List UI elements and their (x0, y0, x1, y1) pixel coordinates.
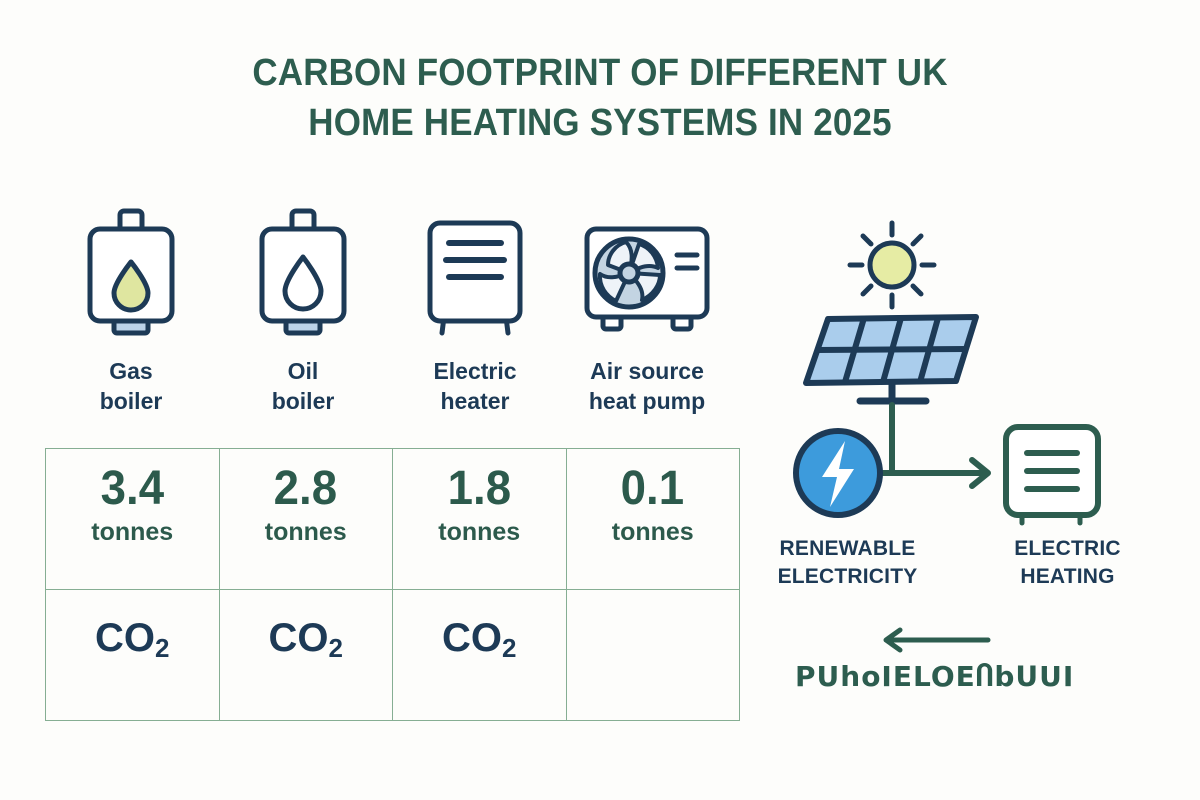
co2-label-gas-boiler: CO2 (95, 616, 169, 664)
heating-system-icon-row: Gas boiler Oil boiler (45, 205, 735, 416)
co2-label-electric-heater: CO2 (442, 616, 516, 664)
value-oil-boiler: 2.8 (274, 463, 337, 515)
lightning-bolt-icon (796, 431, 880, 515)
table-cell-gas-oil-boiler: CO2 (219, 590, 393, 721)
unit-gas-boiler: tonnes (91, 517, 173, 547)
electric-heater-icon (416, 205, 534, 340)
renewable-electricity-label: RENEWABLE ELECTRICITY (750, 535, 945, 591)
heat-pump-icon (577, 205, 717, 340)
unit-electric-heater: tonnes (438, 517, 520, 547)
table-cell-value-gas-boiler: 3.4 tonnes (46, 449, 220, 590)
solar-panel-icon (806, 317, 976, 401)
table-cell-value-heat-pump: 0.1 tonnes (566, 449, 740, 590)
table-cell-value-electric-heater: 1.8 tonnes (393, 449, 567, 590)
oil-boiler-icon (248, 205, 358, 340)
title-line-1: CARBON FOOTPRINT OF DIFFERENT UK (48, 48, 1152, 98)
radiator-icon (1006, 427, 1098, 523)
footer-scribble-text: PUhoIELOEႶbᑌUI (795, 660, 1135, 693)
system-label-gas-boiler: Gas boiler (100, 356, 163, 416)
table-cell-value-oil-boiler: 2.8 tonnes (219, 449, 393, 590)
system-column-oil-boiler: Oil boiler (217, 205, 389, 416)
title-line-2: HOME HEATING SYSTEMS IN 2025 (48, 98, 1152, 148)
table-cell-gas-heat-pump (566, 590, 740, 721)
table-cell-gas-electric-heater: CO2 (393, 590, 567, 721)
table-row-gas-labels: CO2 CO2 CO2 (46, 590, 740, 721)
arrow-left-icon (886, 630, 988, 650)
system-label-oil-boiler: Oil boiler (272, 356, 335, 416)
gas-boiler-icon (76, 205, 186, 340)
value-electric-heater: 1.8 (448, 463, 511, 515)
system-column-heat-pump: Air source heat pump (561, 205, 733, 416)
system-label-electric-heater: Electric heater (433, 356, 516, 416)
value-gas-boiler: 3.4 (101, 463, 164, 515)
electric-heating-label: ELECTRIC HEATING (970, 535, 1165, 591)
infographic-canvas: CARBON FOOTPRINT OF DIFFERENT UK HOME HE… (0, 0, 1200, 800)
unit-heat-pump: tonnes (612, 517, 694, 547)
system-column-electric-heater: Electric heater (389, 205, 561, 416)
table-row-values: 3.4 tonnes 2.8 tonnes 1.8 tonnes (46, 449, 740, 590)
emissions-table: 3.4 tonnes 2.8 tonnes 1.8 tonnes (45, 448, 740, 721)
table-cell-gas-gas-boiler: CO2 (46, 590, 220, 721)
renewable-flow-diagram: RENEWABLE ELECTRICITY ELECTRIC HEATING P… (750, 205, 1170, 725)
co2-label-oil-boiler: CO2 (269, 616, 343, 664)
page-title: CARBON FOOTPRINT OF DIFFERENT UK HOME HE… (0, 48, 1200, 148)
system-label-heat-pump: Air source heat pump (589, 356, 705, 416)
system-column-gas-boiler: Gas boiler (45, 205, 217, 416)
sun-icon (850, 223, 934, 307)
value-heat-pump: 0.1 (621, 463, 684, 515)
unit-oil-boiler: tonnes (265, 517, 347, 547)
